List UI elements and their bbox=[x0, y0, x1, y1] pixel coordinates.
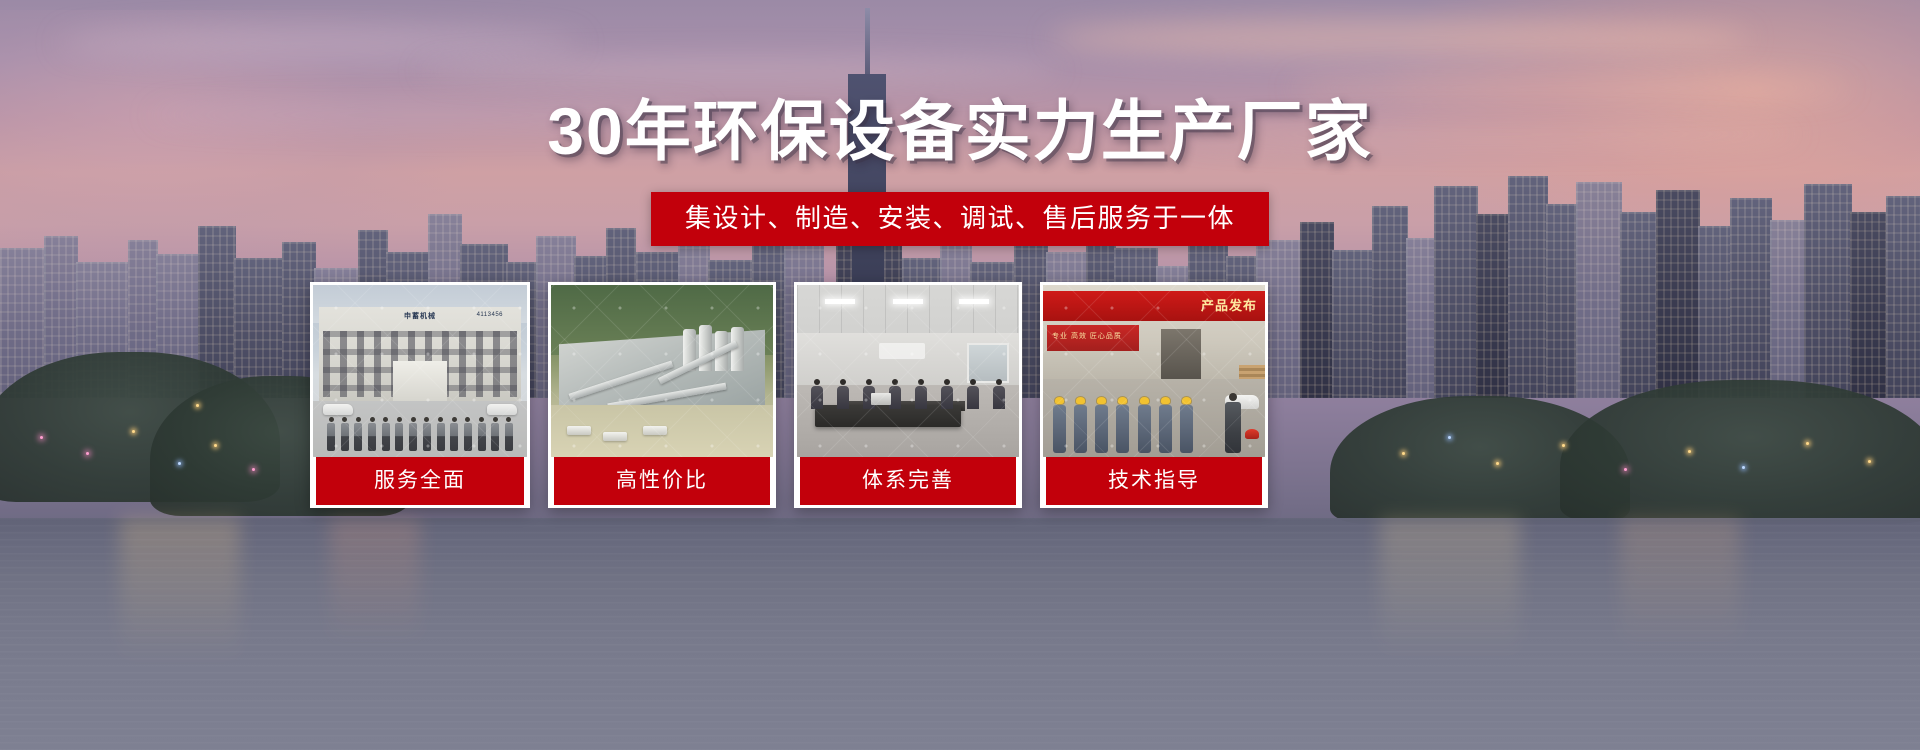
feature-card-label: 服务全面 bbox=[313, 457, 527, 508]
feature-card-label: 体系完善 bbox=[797, 457, 1019, 508]
feature-card[interactable]: 申蓄机械 4113456 服务全面 bbox=[310, 282, 530, 508]
feature-card[interactable]: 产品发布 专业 高效 匠心品质 技术指导 bbox=[1040, 282, 1268, 508]
card-photo-office-interior bbox=[797, 285, 1019, 457]
photo-side-banner-text: 专业 高效 匠心品质 bbox=[1052, 331, 1122, 341]
feature-card-list: 申蓄机械 4113456 服务全面 bbox=[310, 282, 1560, 508]
card-photo-office-building: 申蓄机械 4113456 bbox=[313, 285, 527, 457]
safety-helmet-icon bbox=[1245, 429, 1259, 439]
banner-subtitle-wrap: 集设计、制造、安装、调试、售后服务于一体 bbox=[0, 192, 1920, 246]
feature-card[interactable]: 体系完善 bbox=[794, 282, 1022, 508]
worker-row bbox=[1053, 389, 1193, 453]
staff-row bbox=[327, 411, 513, 451]
banner-subtitle: 集设计、制造、安装、调试、售后服务于一体 bbox=[651, 192, 1269, 246]
feature-card[interactable]: 高性价比 bbox=[548, 282, 776, 508]
card-photo-aerial-plant bbox=[551, 285, 773, 457]
banner-headline: 30年环保设备实力生产厂家 bbox=[0, 98, 1920, 164]
photo-company-sign: 申蓄机械 bbox=[404, 311, 436, 321]
photo-top-banner-text: 产品发布 bbox=[1201, 295, 1257, 314]
feature-card-label: 高性价比 bbox=[551, 457, 773, 508]
staff-row bbox=[811, 373, 1005, 409]
card-photo-factory-workers: 产品发布 专业 高效 匠心品质 bbox=[1043, 285, 1265, 457]
water-shimmer bbox=[0, 518, 1920, 750]
hero-banner: 30年环保设备实力生产厂家 集设计、制造、安装、调试、售后服务于一体 申蓄机械 … bbox=[0, 0, 1920, 750]
photo-phone-number: 4113456 bbox=[477, 312, 503, 318]
feature-card-label: 技术指导 bbox=[1043, 457, 1265, 508]
